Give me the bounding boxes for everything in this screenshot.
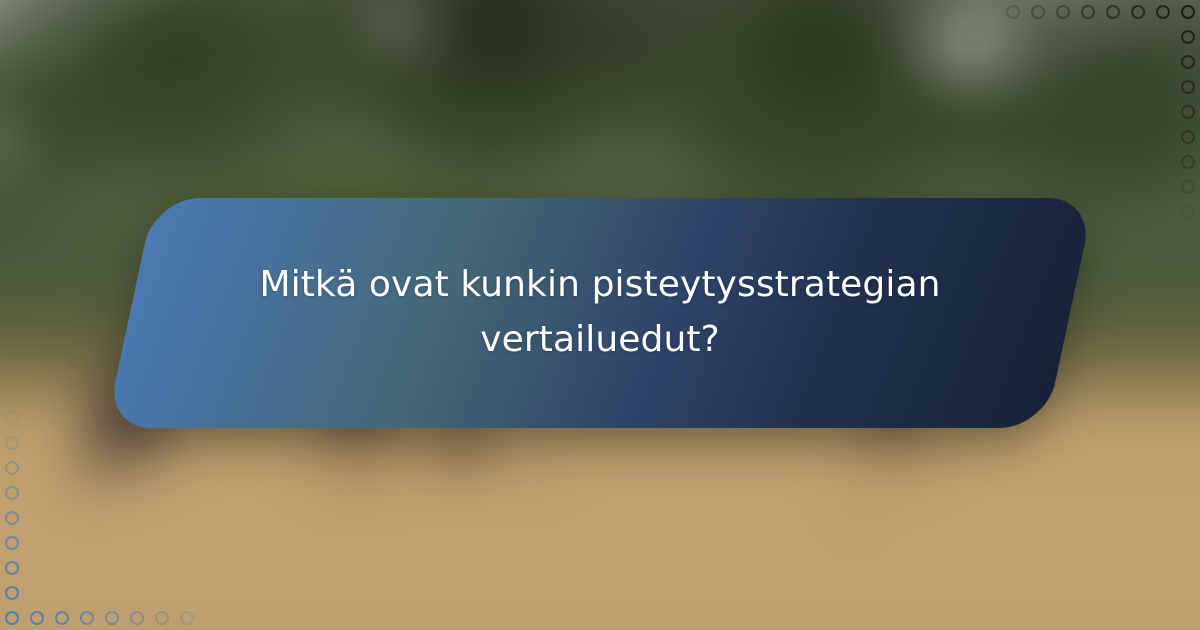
question-card: Mitkä ovat kunkin pisteytysstrategian ve… (130, 198, 1070, 428)
question-title: Mitkä ovat kunkin pisteytysstrategian ve… (250, 258, 950, 367)
dot-grid-top-right (995, 0, 1200, 205)
decorative-dot (5, 586, 19, 600)
decorative-dot (1181, 205, 1195, 219)
decorative-dot (1181, 55, 1195, 69)
decorative-dot (30, 611, 44, 625)
social-card-canvas: Mitkä ovat kunkin pisteytysstrategian ve… (0, 0, 1200, 630)
decorative-dot (5, 561, 19, 575)
decorative-dot (55, 611, 69, 625)
decorative-dot (5, 411, 19, 425)
decorative-dot (1181, 130, 1195, 144)
question-card-content: Mitkä ovat kunkin pisteytysstrategian ve… (130, 198, 1070, 428)
decorative-dot (1181, 105, 1195, 119)
decorative-dot (1081, 5, 1095, 19)
dot-grid-bottom-left (0, 425, 205, 630)
decorative-dot (130, 611, 144, 625)
decorative-dot (5, 436, 19, 450)
decorative-dot (1181, 80, 1195, 94)
decorative-dot (1056, 5, 1070, 19)
decorative-dot (1181, 5, 1195, 19)
decorative-dot (1006, 5, 1020, 19)
decorative-dot (5, 486, 19, 500)
decorative-dot (1181, 30, 1195, 44)
decorative-dot (5, 511, 19, 525)
decorative-dot (105, 611, 119, 625)
decorative-dot (180, 611, 194, 625)
decorative-dot (5, 536, 19, 550)
decorative-dot (80, 611, 94, 625)
decorative-dot (1156, 5, 1170, 19)
decorative-dot (5, 461, 19, 475)
decorative-dot (5, 611, 19, 625)
decorative-dot (155, 611, 169, 625)
decorative-dot (1131, 5, 1145, 19)
decorative-dot (1181, 155, 1195, 169)
decorative-dot (1031, 5, 1045, 19)
decorative-dot (1106, 5, 1120, 19)
decorative-dot (1181, 180, 1195, 194)
